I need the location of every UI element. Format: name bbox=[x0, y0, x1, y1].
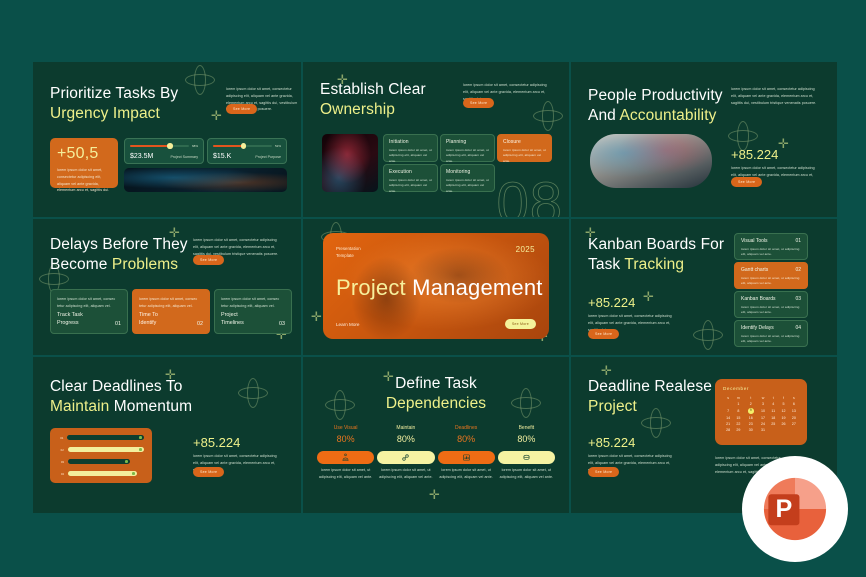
step-card-footer: Project Timelines 03 bbox=[221, 312, 285, 333]
title-line-1: Clear Deadlines To bbox=[50, 378, 182, 395]
slide-delays-before-problems[interactable]: ✛ ✛ Delays Before They Become Problems l… bbox=[33, 219, 301, 355]
slide-establish-clear-ownership[interactable]: ✛ Establish Clear Ownership lorem ipsum … bbox=[303, 62, 569, 217]
phase-card-text: lorem ipsum dolor sit amet, ut adipiscin… bbox=[446, 178, 489, 195]
kpi-percent: 52% bbox=[275, 144, 281, 148]
title-line-1: People Productivity bbox=[588, 87, 723, 104]
metric-value: 80% bbox=[377, 434, 434, 444]
gantt-bar-row: 02 bbox=[58, 447, 144, 452]
feature-row-number: 04 bbox=[795, 325, 801, 331]
title-line-1: Prioritize Tasks By bbox=[50, 85, 178, 102]
metric-pill[interactable] bbox=[377, 451, 434, 464]
phase-card-text: lorem ipsum dolor sit amet, ut adipiscin… bbox=[446, 148, 489, 165]
progress-fill bbox=[130, 145, 170, 148]
slide-people-productivity[interactable]: ✛ People Productivity And Accountability… bbox=[571, 62, 837, 217]
calendar-day[interactable]: 29 bbox=[733, 427, 743, 433]
kpi-footer: $15.K Project Purpose bbox=[213, 153, 281, 160]
calendar-day[interactable]: 13 bbox=[789, 407, 799, 415]
feature-row-title: Gantt charts bbox=[741, 267, 768, 273]
feature-row-header: Kanban Boards 03 bbox=[741, 296, 801, 302]
stat-value: +50,5 bbox=[57, 145, 111, 163]
feature-row-title: Identify Delays bbox=[741, 325, 774, 331]
step-title-line-2: Progress bbox=[57, 320, 79, 326]
link-icon bbox=[401, 453, 410, 462]
orbit-decoration-icon bbox=[194, 65, 206, 95]
kpi-progress: 52% bbox=[213, 144, 281, 148]
slide-body-text: lorem ipsum dolor sit amet, consectetur … bbox=[731, 86, 821, 106]
phase-card-initiation[interactable]: Initiation lorem ipsum dolor sit amet, u… bbox=[383, 134, 438, 162]
feature-row-header: Visual Tools 01 bbox=[741, 238, 801, 244]
feature-row-text: lorem ipsum dolor sit amet, ut adipiscin… bbox=[741, 305, 801, 316]
hero-eyebrow-line-1: Presentation bbox=[336, 246, 361, 251]
calendar-day[interactable]: 11 bbox=[768, 407, 778, 415]
phase-card-monitoring[interactable]: Monitoring lorem ipsum dolor sit amet, u… bbox=[440, 164, 495, 192]
title-line-2-highlight: Maintain bbox=[50, 398, 109, 415]
slide-prioritize-tasks[interactable]: ✛ Prioritize Tasks By Urgency Impact lor… bbox=[33, 62, 301, 217]
title-line-1: Establish Clear bbox=[320, 81, 426, 98]
step-card-text: lorem ipsum dolor sit amet, consec tetur… bbox=[221, 296, 285, 310]
progress-knob-icon[interactable] bbox=[167, 143, 172, 148]
feature-row-text: lorem ipsum dolor sit amet, ut adipiscin… bbox=[741, 276, 801, 287]
see-more-button[interactable]: See More bbox=[193, 255, 224, 265]
phase-card-text: lorem ipsum dolor sit amet, ut adipiscin… bbox=[503, 148, 546, 165]
feature-row-number: 03 bbox=[795, 296, 801, 302]
svg-text:P: P bbox=[776, 495, 793, 523]
calendar-day[interactable]: 28 bbox=[723, 427, 733, 433]
people-icon bbox=[341, 453, 350, 462]
slide-photo bbox=[590, 134, 712, 188]
gantt-bar bbox=[68, 459, 130, 464]
slide-photo bbox=[322, 134, 378, 192]
title-line-2-prefix: Task bbox=[588, 256, 624, 273]
orbit-decoration-icon bbox=[728, 130, 758, 142]
phase-card-text: lorem ipsum dolor sit amet, ut adipiscin… bbox=[389, 178, 432, 195]
slide-grid: ✛ Prioritize Tasks By Urgency Impact lor… bbox=[33, 62, 833, 518]
see-more-button[interactable]: See More bbox=[193, 467, 224, 477]
feature-row-number: 01 bbox=[795, 238, 801, 244]
orbit-decoration-icon bbox=[247, 378, 259, 408]
hero-eyebrow-line-2: Template bbox=[336, 253, 354, 258]
step-card-number: 01 bbox=[115, 321, 121, 327]
feature-row-gantt-charts[interactable]: Gantt charts 02 lorem ipsum dolor sit am… bbox=[734, 262, 808, 289]
metric-label: Use Visual bbox=[317, 425, 374, 431]
progress-track bbox=[213, 145, 272, 148]
metric-column: Maintain 80% bbox=[377, 425, 434, 444]
hero-year: 2025 bbox=[516, 245, 535, 254]
slide-title: Establish Clear Ownership bbox=[320, 80, 426, 121]
slide-title: Clear Deadlines To Maintain Momentum bbox=[50, 377, 192, 418]
title-line-2-highlight: Accountability bbox=[619, 107, 716, 124]
kpi-value: $15.K bbox=[213, 153, 231, 160]
progress-fill bbox=[213, 145, 244, 148]
kpi-caption: Project Purpose bbox=[255, 155, 281, 159]
metric-header-row: Use Visual 80% Maintain 80% Deadlines 80… bbox=[317, 425, 555, 444]
see-more-button[interactable]: See More bbox=[588, 467, 619, 477]
metric-value: 80% bbox=[498, 434, 555, 444]
kpi-caption: Project Summary bbox=[170, 155, 198, 159]
gantt-bar-row: 01 bbox=[58, 435, 144, 440]
calendar-day[interactable]: 30 bbox=[744, 427, 758, 433]
gantt-bar-label: 01 bbox=[58, 436, 63, 440]
gantt-bar-label: 03 bbox=[58, 460, 64, 464]
orbit-decoration-icon bbox=[641, 417, 671, 429]
presentation-preview-canvas: ✛ Prioritize Tasks By Urgency Impact lor… bbox=[0, 0, 866, 577]
calendar-day[interactable] bbox=[768, 427, 778, 433]
see-more-button[interactable]: See More bbox=[226, 104, 257, 114]
orbit-decoration-icon bbox=[702, 320, 714, 350]
kpi-card[interactable]: 68% $23.5M Project Summary bbox=[124, 138, 204, 164]
phase-card-text: lorem ipsum dolor sit amet, ut adipiscin… bbox=[389, 148, 432, 165]
title-line-2: Dependencies bbox=[386, 395, 486, 412]
step-card-title: Project Timelines bbox=[221, 312, 244, 327]
slide-title: Delays Before They Become Problems bbox=[50, 235, 188, 276]
orbit-decoration-icon bbox=[533, 110, 563, 122]
gantt-bar-row: 04 bbox=[58, 471, 144, 476]
powerpoint-logo-icon: P bbox=[758, 472, 832, 546]
metric-description: lorem ipsum dolor sit amet, ut adipiscin… bbox=[438, 467, 495, 481]
metric-value: 80% bbox=[317, 434, 374, 444]
kpi-footer: $23.5M Project Summary bbox=[130, 153, 198, 160]
title-line-2-prefix: Become bbox=[50, 256, 112, 273]
step-card-track-task-progress[interactable]: lorem ipsum dolor sit amet, consec tetur… bbox=[50, 289, 128, 334]
metric-description: lorem ipsum dolor sit amet, ut adipiscin… bbox=[498, 467, 555, 481]
step-title-line-1: Track Task bbox=[57, 312, 83, 318]
step-title-line-1: Time To bbox=[139, 312, 158, 318]
metric-pill[interactable] bbox=[438, 451, 495, 464]
title-line-1: Deadline Realese bbox=[588, 378, 712, 395]
step-card-title: Time To Identify bbox=[139, 312, 158, 327]
step-card-list: lorem ipsum dolor sit amet, consec tetur… bbox=[50, 289, 292, 334]
see-more-button[interactable]: See More bbox=[731, 177, 762, 187]
title-line-2: Ownership bbox=[320, 101, 395, 118]
feature-row-kanban-boards[interactable]: Kanban Boards 03 lorem ipsum dolor sit a… bbox=[734, 291, 808, 318]
orbit-decoration-icon bbox=[185, 74, 215, 86]
phase-card-title: Execution bbox=[389, 169, 432, 175]
calendar-month-label: December bbox=[723, 386, 799, 391]
stat-value: +85.224 bbox=[731, 147, 817, 162]
metric-label: Maintain bbox=[377, 425, 434, 431]
calendar-table: s m t w t f s 1 2 bbox=[723, 395, 799, 434]
bar-chart-icon bbox=[462, 453, 471, 462]
step-title-line-2: Timelines bbox=[221, 320, 244, 326]
stat-description: lorem ipsum dolor sit amet, consectetur … bbox=[57, 167, 113, 194]
feature-row-number: 02 bbox=[795, 267, 801, 273]
slide-page-number: 08 bbox=[496, 175, 563, 217]
calendar-widget[interactable]: December s m t w t f s bbox=[715, 379, 807, 445]
stat-value: +85.224 bbox=[588, 295, 678, 310]
metric-column: Deadlines 80% bbox=[438, 425, 495, 444]
title-line-1: Kanban Boards For bbox=[588, 236, 724, 253]
title-line-2: Urgency Impact bbox=[50, 105, 160, 122]
money-icon bbox=[522, 453, 531, 462]
step-card-number: 02 bbox=[197, 321, 203, 327]
phase-card-execution[interactable]: Execution lorem ipsum dolor sit amet, ut… bbox=[383, 164, 438, 192]
kpi-progress: 68% bbox=[130, 144, 198, 148]
powerpoint-format-badge: P bbox=[742, 456, 848, 562]
kpi-card[interactable]: 52% $15.K Project Purpose bbox=[207, 138, 287, 164]
phase-card-title: Planning bbox=[446, 139, 489, 145]
feature-row-text: lorem ipsum dolor sit amet, ut adipiscin… bbox=[741, 247, 801, 258]
feature-row-identify-delays[interactable]: Identify Delays 04 lorem ipsum dolor sit… bbox=[734, 320, 808, 347]
kpi-percent: 68% bbox=[192, 144, 198, 148]
learn-more-link[interactable]: Learn More bbox=[336, 322, 360, 327]
title-line-2-highlight: Tracking bbox=[624, 256, 684, 273]
slide-define-task-dependencies[interactable]: ✛ ✛ Define Task Dependencies Use Visual … bbox=[303, 357, 569, 513]
phase-card-closure[interactable]: Closure lorem ipsum dolor sit amet, ut a… bbox=[497, 134, 552, 162]
metric-label: Deadlines bbox=[438, 425, 495, 431]
calendar-day[interactable]: 10 bbox=[758, 407, 768, 415]
calendar-day[interactable]: 8 bbox=[733, 407, 743, 415]
slide-kanban-boards[interactable]: ✛ ✛ Kanban Boards For Task Tracking +85.… bbox=[571, 219, 837, 355]
sparkle-icon: ✛ bbox=[211, 110, 222, 123]
metric-column: Benefit 80% bbox=[498, 425, 555, 444]
stat-value: +85.224 bbox=[193, 435, 281, 450]
hero-eyebrow: Presentation Template bbox=[336, 245, 361, 259]
see-more-button[interactable]: See More bbox=[463, 98, 494, 108]
orbit-decoration-icon bbox=[238, 387, 268, 399]
calendar-day[interactable]: 7 bbox=[723, 407, 733, 415]
feature-row-title: Kanban Boards bbox=[741, 296, 775, 302]
sparkle-icon: ✛ bbox=[311, 311, 322, 324]
calendar-day[interactable] bbox=[778, 427, 788, 433]
gantt-bar bbox=[67, 435, 144, 440]
orbit-decoration-icon bbox=[693, 329, 723, 341]
title-line-2: Project bbox=[588, 398, 637, 415]
calendar-day-selected[interactable]: 9 bbox=[744, 407, 758, 415]
progress-track bbox=[130, 145, 189, 148]
kpi-value: $23.5M bbox=[130, 153, 153, 160]
title-line-1: Delays Before They bbox=[50, 236, 188, 253]
calendar-week-row: 7 8 9 10 11 12 13 bbox=[723, 407, 799, 415]
calendar-day[interactable]: 31 bbox=[758, 427, 768, 433]
gantt-bar-marker-icon bbox=[125, 460, 128, 463]
metric-label: Benefit bbox=[498, 425, 555, 431]
step-card-title: Track Task Progress bbox=[57, 312, 83, 327]
metric-value: 80% bbox=[438, 434, 495, 444]
metric-description-row: lorem ipsum dolor sit amet, ut adipiscin… bbox=[317, 467, 555, 481]
slide-hero-project-management[interactable]: ✛ ✛ Presentation Template 2025 Project M… bbox=[303, 219, 569, 355]
feature-row-visual-tools[interactable]: Visual Tools 01 lorem ipsum dolor sit am… bbox=[734, 233, 808, 260]
slide-photo bbox=[124, 168, 287, 192]
metric-column: Use Visual 80% bbox=[317, 425, 374, 444]
calendar-week-row: 28 29 30 31 bbox=[723, 427, 799, 433]
phase-card-planning[interactable]: Planning lorem ipsum dolor sit amet, ut … bbox=[440, 134, 495, 162]
hero-card[interactable]: Presentation Template 2025 Project Manag… bbox=[323, 233, 549, 339]
calendar-day[interactable] bbox=[789, 427, 799, 433]
stat-card: +50,5 lorem ipsum dolor sit amet, consec… bbox=[50, 138, 118, 188]
calendar-day[interactable]: 12 bbox=[778, 407, 788, 415]
step-card-footer: Time To Identify 02 bbox=[139, 312, 203, 333]
metric-icon-row bbox=[317, 451, 555, 464]
slide-title: Kanban Boards For Task Tracking bbox=[588, 235, 724, 276]
gantt-chart: 01 02 03 04 bbox=[50, 428, 152, 483]
gantt-bar-marker-icon bbox=[139, 436, 142, 439]
gantt-bar-label: 02 bbox=[58, 448, 64, 452]
orbit-decoration-icon bbox=[542, 101, 554, 131]
step-title-line-1: Project bbox=[221, 312, 238, 318]
feature-row-header: Gantt charts 02 bbox=[741, 267, 801, 273]
title-line-1: Define Task bbox=[395, 375, 477, 392]
step-card-project-timelines[interactable]: lorem ipsum dolor sit amet, consec tetur… bbox=[214, 289, 292, 334]
feature-row-title: Visual Tools bbox=[741, 238, 768, 244]
slide-title: Define Task Dependencies bbox=[303, 374, 569, 415]
step-title-line-2: Identify bbox=[139, 320, 156, 326]
gantt-bar bbox=[68, 447, 144, 452]
slide-title: People Productivity And Accountability bbox=[588, 86, 723, 127]
phase-card-title: Closure bbox=[503, 139, 546, 145]
hero-title-highlight: Project bbox=[336, 275, 406, 300]
feature-row-text: lorem ipsum dolor sit amet, ut adipiscin… bbox=[741, 334, 801, 345]
step-card-footer: Track Task Progress 01 bbox=[57, 312, 121, 333]
slide-clear-deadlines[interactable]: ✛ Clear Deadlines To Maintain Momentum 0… bbox=[33, 357, 301, 513]
feature-row-list: Visual Tools 01 lorem ipsum dolor sit am… bbox=[734, 233, 808, 347]
gantt-bar-marker-icon bbox=[139, 448, 142, 451]
title-line-2-rest: Momentum bbox=[109, 398, 192, 415]
step-card-time-to-identify[interactable]: lorem ipsum dolor sit amet, consec tetur… bbox=[132, 289, 210, 334]
calendar-day-selected-label: 9 bbox=[748, 408, 754, 414]
see-more-button[interactable]: See More bbox=[588, 329, 619, 339]
see-more-button[interactable]: See More bbox=[505, 319, 536, 329]
hero-title: Project Management bbox=[336, 275, 543, 301]
metric-pill[interactable] bbox=[498, 451, 555, 464]
metric-description: lorem ipsum dolor sit amet, ut adipiscin… bbox=[377, 467, 434, 481]
sparkle-icon: ✛ bbox=[429, 489, 440, 502]
title-line-2-prefix: And bbox=[588, 107, 619, 124]
slide-title: Deadline Realese Project bbox=[588, 377, 712, 418]
gantt-bar bbox=[68, 471, 137, 476]
step-card-number: 03 bbox=[279, 321, 285, 327]
progress-knob-icon[interactable] bbox=[241, 143, 246, 148]
hero-title-rest: Management bbox=[406, 275, 543, 300]
step-card-text: lorem ipsum dolor sit amet, consec tetur… bbox=[139, 296, 203, 310]
phase-card-title: Initiation bbox=[389, 139, 432, 145]
metric-description: lorem ipsum dolor sit amet, ut adipiscin… bbox=[317, 467, 374, 481]
stat-value: +85.224 bbox=[588, 435, 676, 450]
gantt-bar-label: 04 bbox=[58, 472, 64, 476]
metric-pill[interactable] bbox=[317, 451, 374, 464]
step-card-text: lorem ipsum dolor sit amet, consec tetur… bbox=[57, 296, 121, 310]
gantt-bar-marker-icon bbox=[132, 472, 135, 475]
gantt-bar-row: 03 bbox=[58, 459, 144, 464]
stat-block: +85.224 lorem ipsum dolor sit amet, cons… bbox=[588, 295, 678, 333]
phase-card-title: Monitoring bbox=[446, 169, 489, 175]
feature-row-header: Identify Delays 04 bbox=[741, 325, 801, 331]
title-line-2-highlight: Problems bbox=[112, 256, 178, 273]
slide-title: Prioritize Tasks By Urgency Impact bbox=[50, 84, 178, 125]
